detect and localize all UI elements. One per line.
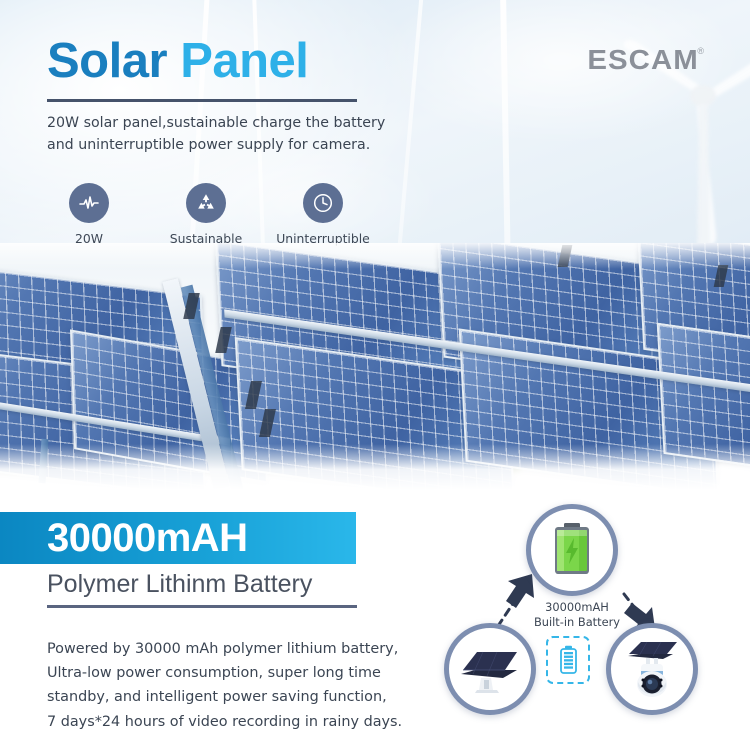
feature-item-20w: 20W [47, 183, 131, 246]
photo-top-fade [0, 243, 750, 269]
title-divider [47, 99, 357, 102]
hero-subtitle: 20W solar panel,sustainable charge the b… [47, 113, 467, 156]
feature-icon-circle [303, 183, 343, 223]
battery-node [526, 504, 618, 596]
battery-subtitle: Polymer Lithinm Battery [47, 571, 312, 599]
solar-panel-node [444, 623, 536, 715]
page-title-part1: Solar [47, 34, 167, 88]
feature-item-uninterruptible: Uninterruptible [281, 183, 365, 246]
photo-bottom-fade [0, 444, 750, 490]
pulse-waveform-icon [77, 191, 101, 215]
capacity-value: 30000mAH [47, 518, 248, 558]
feature-icon-circle [69, 183, 109, 223]
page-title: Solar Panel [47, 36, 467, 87]
hero-text-block: Solar Panel 20W solar panel,sustainable … [47, 36, 467, 156]
hero-section: ESCAM ® Solar Panel 20W solar panel,sust… [0, 0, 750, 490]
feature-item-sustainable: Sustainable [164, 183, 248, 246]
capacity-banner: 30000mAH [0, 512, 356, 564]
solar-farm-photo [0, 243, 750, 490]
battery-divider [47, 605, 357, 608]
battery-badge [546, 636, 590, 684]
camera-node [606, 623, 698, 715]
battery-level-icon [559, 645, 578, 675]
escam-logo: ESCAM ® [590, 44, 704, 76]
feature-icon-circle [186, 183, 226, 223]
feature-list: 20W Sustainable [47, 183, 365, 246]
solar-panel-icon [459, 644, 521, 694]
energy-cycle-diagram: 30000mAH Built-in Battery [438, 490, 750, 750]
recycle-icon [194, 191, 218, 215]
battery-section: 30000mAH Polymer Lithinm Battery Powered… [0, 490, 750, 750]
escam-logo-text: ESCAM [588, 44, 699, 76]
clock-icon [311, 191, 335, 215]
green-battery-charging-icon [551, 522, 593, 578]
ptz-solar-camera-icon [621, 638, 683, 700]
page-title-part2: Panel [180, 34, 308, 88]
cycle-caption: 30000mAH Built-in Battery [522, 600, 632, 631]
battery-description: Powered by 30000 mAh polymer lithium bat… [47, 637, 447, 733]
product-marketing-page: ESCAM ® Solar Panel 20W solar panel,sust… [0, 0, 750, 750]
